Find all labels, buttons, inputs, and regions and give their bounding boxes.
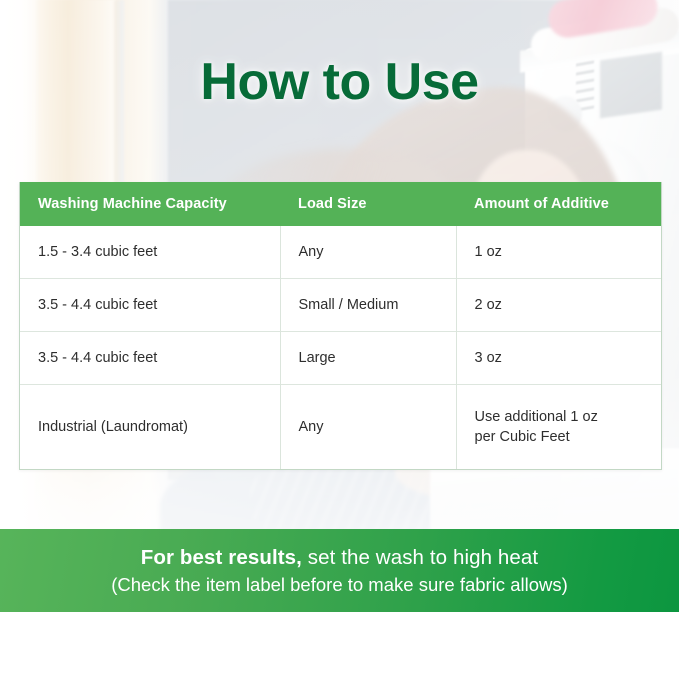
cell-capacity: 3.5 - 4.4 cubic feet [20,332,280,385]
table-header-row: Washing Machine Capacity Load Size Amoun… [20,182,661,226]
banner-headline-bold: For best results, [141,546,302,569]
table-row: 1.5 - 3.4 cubic feet Any 1 oz [20,226,661,279]
best-results-banner: For best results, set the wash to high h… [0,529,679,612]
cell-load-size: Any [280,226,456,279]
table-row: 3.5 - 4.4 cubic feet Large 3 oz [20,332,661,385]
cell-capacity: Industrial (Laundromat) [20,385,280,470]
cell-amount: 3 oz [456,332,661,385]
cell-load-size: Small / Medium [280,279,456,332]
column-header-amount: Amount of Additive [456,182,661,226]
column-header-load-size: Load Size [280,182,456,226]
cell-amount: 2 oz [456,279,661,332]
column-header-capacity: Washing Machine Capacity [20,182,280,226]
cell-amount: 1 oz [456,226,661,279]
banner-headline: For best results, set the wash to high h… [141,546,538,570]
cell-amount: Use additional 1 ozper Cubic Feet [456,385,661,470]
cell-capacity: 3.5 - 4.4 cubic feet [20,279,280,332]
banner-headline-rest: set the wash to high heat [302,546,538,569]
page-title: How to Use [0,52,679,112]
dosage-table: Washing Machine Capacity Load Size Amoun… [19,182,662,470]
banner-subtext: (Check the item label before to make sur… [111,574,568,596]
cell-capacity: 1.5 - 3.4 cubic feet [20,226,280,279]
table-row: Industrial (Laundromat) Any Use addition… [20,385,661,470]
infographic-canvas: How to Use Washing Machine Capacity Load… [0,0,679,679]
cell-load-size: Large [280,332,456,385]
table-row: 3.5 - 4.4 cubic feet Small / Medium 2 oz [20,279,661,332]
cell-load-size: Any [280,385,456,470]
